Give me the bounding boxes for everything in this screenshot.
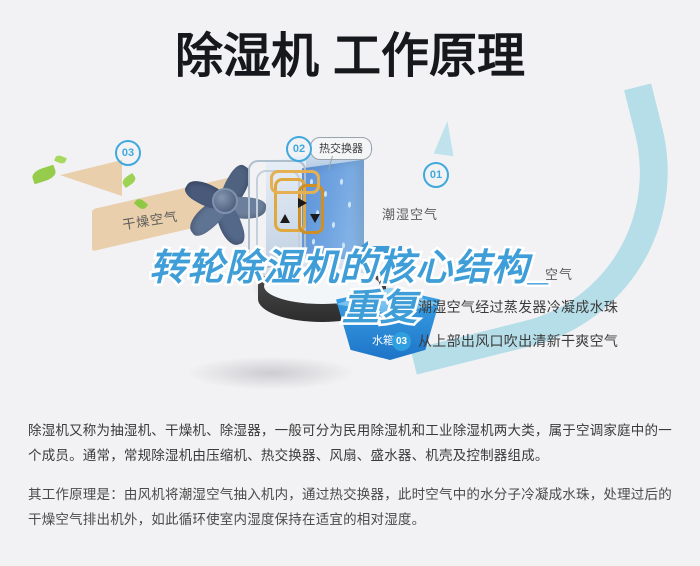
legend-item-01: 01 室内潮湿空气被风机吸入机内 bbox=[392, 256, 692, 290]
heat-exchanger-callout: 热交换器 bbox=[310, 137, 372, 160]
intake-arrow-icon bbox=[368, 246, 402, 256]
page-title-part2: 工作原理 bbox=[333, 30, 525, 83]
legend-list: 01 室内潮湿空气被风机吸入机内 02 潮湿空气经过蒸发器冷凝成水珠 03 从上… bbox=[392, 256, 692, 358]
flow-arrow-up-icon bbox=[280, 214, 290, 223]
legend-item-03: 03 从上部出风口吹出清新干爽空气 bbox=[392, 324, 692, 358]
legend-badge-03: 03 bbox=[392, 332, 411, 351]
legend-badge-02: 02 bbox=[392, 298, 411, 317]
humid-air-label: 潮湿空气 bbox=[382, 204, 438, 223]
dry-air-arrow-head bbox=[60, 160, 122, 196]
water-tank-label: 水箱 bbox=[372, 332, 394, 348]
machine-drop-shadow bbox=[186, 356, 356, 390]
flow-arrow-down-icon bbox=[310, 214, 320, 223]
page-title-part1: 除湿机 bbox=[175, 30, 319, 83]
flow-arrow-right-icon bbox=[298, 198, 307, 208]
fan-hub bbox=[212, 188, 238, 214]
diagram-badge-02: 02 bbox=[286, 136, 312, 162]
diagram-badge-03: 03 bbox=[115, 140, 141, 166]
compressor-label: 压缩机 bbox=[271, 264, 305, 283]
article-body: 除湿机又称为抽湿机、干燥机、除湿器，一般可分为民用除湿机和工业除湿机两大类，属于… bbox=[28, 418, 676, 532]
body-paragraph-1: 除湿机又称为抽湿机、干燥机、除湿器，一般可分为民用除湿机和工业除湿机两大类，属于… bbox=[28, 418, 676, 468]
condenser-coil bbox=[270, 170, 320, 194]
page-title: 除湿机工作原理 bbox=[0, 26, 700, 88]
legend-text-02: 潮湿空气经过蒸发器冷凝成水珠 bbox=[418, 297, 618, 317]
dehumidifier-diagram: 干燥空气 bbox=[0, 118, 700, 390]
infographic-page: 除湿机工作原理 干燥空气 bbox=[0, 0, 700, 566]
legend-item-02: 02 潮湿空气经过蒸发器冷凝成水珠 bbox=[392, 290, 692, 324]
body-paragraph-2: 其工作原理是：由风机将潮湿空气抽入机内，通过热交换器，此时空气中的水分子冷凝成水… bbox=[28, 482, 676, 532]
legend-text-03: 从上部出风口吹出清新干爽空气 bbox=[418, 331, 618, 351]
diagram-badge-01: 01 bbox=[423, 162, 449, 188]
